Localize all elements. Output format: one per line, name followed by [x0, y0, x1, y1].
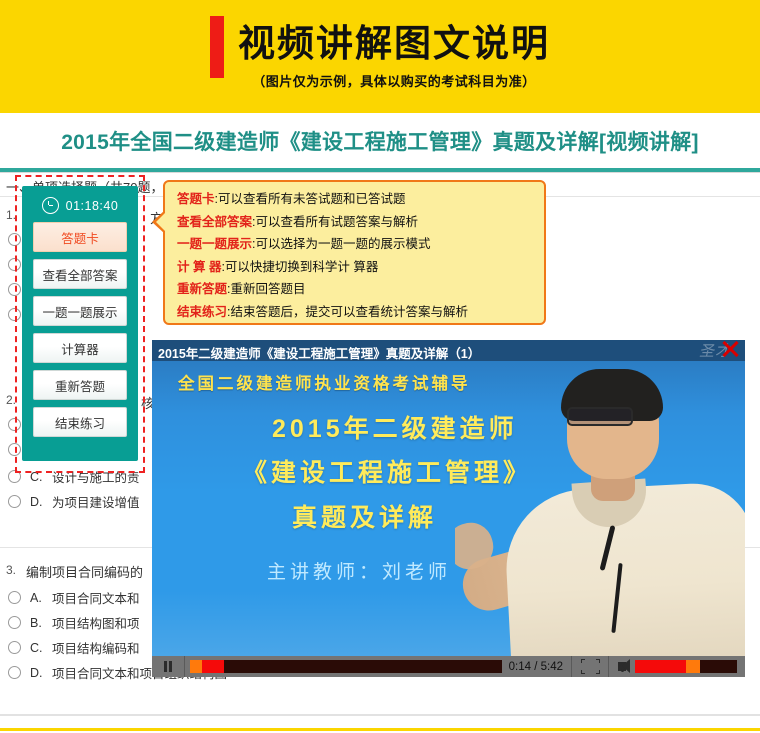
- question-number: 1.: [6, 208, 16, 222]
- callout-line: 一题一题展示:可以选择为一题一题的展示模式: [177, 233, 544, 256]
- top-banner: 视频讲解图文说明 （图片仅为示例，具体以购买的考试科目为准）: [0, 0, 760, 113]
- option-letter: D.: [30, 495, 52, 509]
- callout-line: 结束练习:结束答题后，提交可以查看统计答案与解析: [177, 301, 544, 324]
- seek-progress: [190, 660, 202, 673]
- option-text: 项目合同文本和: [52, 588, 140, 607]
- calculator-button[interactable]: 计算器: [33, 333, 127, 363]
- radio-icon[interactable]: [8, 591, 21, 604]
- radio-icon[interactable]: [8, 641, 21, 654]
- presenter-figure: [455, 361, 745, 656]
- slide-subtitle: 全国二级建造师执业资格考试辅导: [178, 370, 471, 394]
- banner-subtitle: （图片仅为示例，具体以购买的考试科目为准）: [252, 71, 536, 90]
- option-letter: D.: [30, 666, 52, 680]
- radio-icon[interactable]: [8, 616, 21, 629]
- exam-top-divider: [0, 172, 760, 173]
- callout-desc: :可以查看所有未答试题和已答试题: [215, 192, 406, 206]
- page-title: 2015年全国二级建造师《建设工程施工管理》真题及详解[视频讲解]: [61, 126, 699, 156]
- option-letter: A.: [30, 591, 52, 605]
- radio-icon[interactable]: [8, 233, 21, 246]
- speaker-wave: [621, 669, 624, 672]
- one-by-one-display-button[interactable]: 一题一题展示: [33, 296, 127, 326]
- callout-key: 一题一题展示: [177, 237, 252, 251]
- presenter-glasses: [567, 407, 633, 426]
- fullscreen-icon[interactable]: [572, 656, 608, 677]
- page-title-bar: 2015年全国二级建造师《建设工程施工管理》真题及详解[视频讲解]: [0, 113, 760, 168]
- banner-title: 视频讲解图文说明: [238, 23, 550, 66]
- tooltip-callout: 答题卡:可以查看所有未答试题和已答试题 查看全部答案:可以查看所有试题答案与解析…: [163, 180, 546, 325]
- slide-line-1: 2015年二级建造师: [272, 409, 518, 445]
- close-icon[interactable]: [719, 340, 741, 360]
- callout-key: 结束练习: [177, 305, 227, 319]
- option-row[interactable]: B. 项目结构图和项: [8, 613, 140, 632]
- player-controls: 0:14 / 5:42: [152, 656, 745, 677]
- callout-desc: :重新回答题目: [227, 282, 305, 296]
- time-display: 0:14 / 5:42: [509, 661, 563, 673]
- exam-bottom-accent-line: [0, 728, 760, 731]
- top-banner-inner: 视频讲解图文说明 （图片仅为示例，具体以购买的考试科目为准）: [0, 0, 760, 113]
- option-letter: C.: [30, 641, 52, 655]
- volume-slider[interactable]: [635, 660, 737, 673]
- callout-desc: :可以查看所有试题答案与解析: [252, 215, 418, 229]
- option-row[interactable]: A. 项目合同文本和: [8, 588, 140, 607]
- radio-icon[interactable]: [8, 258, 21, 271]
- answer-card-button[interactable]: 答题卡: [33, 222, 127, 252]
- option-text: 为项目建设增值: [52, 492, 140, 511]
- video-player: 圣才 2015年二级建造师《建设工程施工管理》真题及详解（1） 全国二级建造师执…: [152, 340, 745, 677]
- callout-line: 查看全部答案:可以查看所有试题答案与解析: [177, 211, 544, 234]
- slide-line-4: 主讲教师：刘老师: [267, 557, 451, 584]
- exam-bottom-divider: [0, 714, 760, 716]
- option-row[interactable]: C. 项目结构编码和: [8, 638, 140, 657]
- callout-key: 答题卡: [177, 192, 215, 206]
- option-text: 项目结构编码和: [52, 638, 140, 657]
- option-letter: C.: [30, 470, 52, 484]
- option-row[interactable]: C. 设计与施工的责: [8, 467, 140, 486]
- banner-accent-bar: [210, 16, 224, 78]
- option-text: 项目结构图和项: [52, 613, 140, 632]
- view-all-answers-button[interactable]: 查看全部答案: [33, 259, 127, 289]
- speaker-glyph: [618, 662, 626, 671]
- question-number: 3.: [6, 563, 16, 577]
- radio-icon[interactable]: [8, 666, 21, 679]
- restart-answering-button[interactable]: 重新答题: [33, 370, 127, 400]
- option-text: 设计与施工的责: [52, 467, 140, 486]
- radio-icon[interactable]: [8, 470, 21, 483]
- finish-practice-button[interactable]: 结束练习: [33, 407, 127, 437]
- player-title: 2015年二级建造师《建设工程施工管理》真题及详解（1）: [158, 343, 480, 362]
- callout-key: 重新答题: [177, 282, 227, 296]
- clock-icon: [42, 197, 59, 214]
- exam-timer: 01:18:40: [42, 197, 119, 214]
- radio-icon[interactable]: [8, 418, 21, 431]
- volume-knob: [686, 660, 700, 673]
- question-number: 2.: [6, 393, 16, 407]
- callout-desc: :可以快捷切换到科学计 算器: [221, 260, 378, 274]
- question-text: 编制项目合同编码的: [26, 562, 143, 581]
- volume-icon[interactable]: [609, 656, 635, 677]
- callout-line: 答题卡:可以查看所有未答试题和已答试题: [177, 188, 544, 211]
- callout-desc: :可以选择为一题一题的展示模式: [252, 237, 430, 251]
- callout-line: 计 算 器:可以快捷切换到科学计 算器: [177, 256, 544, 279]
- radio-icon[interactable]: [8, 283, 21, 296]
- radio-icon[interactable]: [8, 443, 21, 456]
- timer-value: 01:18:40: [66, 199, 119, 213]
- control-separator: [184, 656, 185, 677]
- pause-icon[interactable]: [152, 656, 184, 677]
- callout-key: 计 算 器: [177, 260, 221, 274]
- callout-key: 查看全部答案: [177, 215, 252, 229]
- slide-line-2: 《建设工程施工管理》: [242, 453, 532, 489]
- seek-bar[interactable]: [190, 660, 502, 673]
- radio-icon[interactable]: [8, 495, 21, 508]
- banner-text-group: 视频讲解图文说明 （图片仅为示例，具体以购买的考试科目为准）: [238, 23, 550, 90]
- slide-line-3: 真题及详解: [292, 498, 437, 534]
- video-stage[interactable]: 全国二级建造师执业资格考试辅导 2015年二级建造师 《建设工程施工管理》 真题…: [152, 361, 745, 656]
- callout-line: 重新答题:重新回答题目: [177, 278, 544, 301]
- radio-icon[interactable]: [8, 308, 21, 321]
- option-row[interactable]: D. 为项目建设增值: [8, 492, 140, 511]
- callout-desc: :结束答题后，提交可以查看统计答案与解析: [227, 305, 468, 319]
- exam-tool-panel: 01:18:40 答题卡 查看全部答案 一题一题展示 计算器 重新答题 结束练习: [22, 186, 138, 461]
- option-letter: B.: [30, 616, 52, 630]
